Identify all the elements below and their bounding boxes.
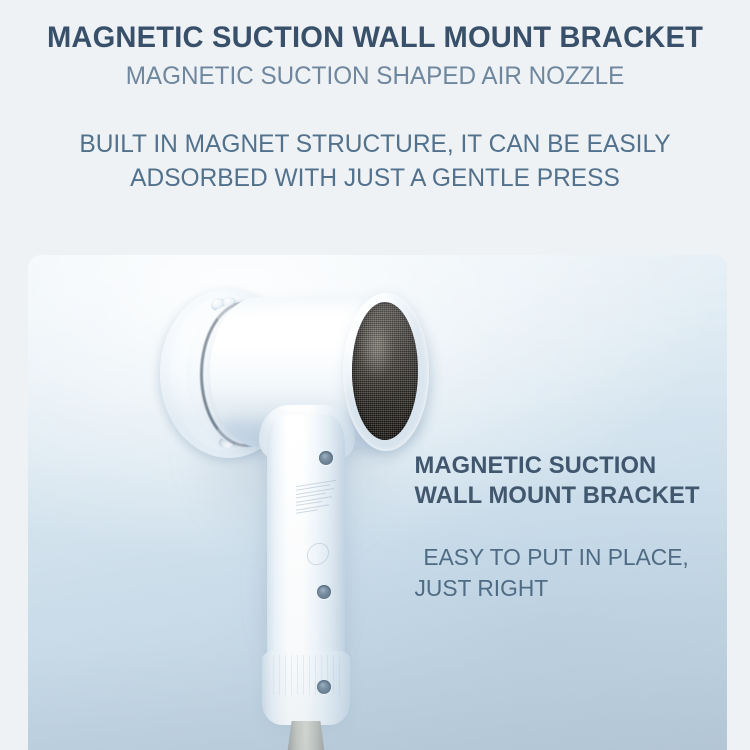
overlay-headline-line-2: WALL MOUNT BRACKET bbox=[415, 481, 712, 511]
dryer-handle-ribs bbox=[268, 655, 344, 695]
page-title: MAGNETIC SUCTION WALL MOUNT BRACKET bbox=[11, 22, 739, 54]
handle-spec-label bbox=[296, 483, 338, 551]
overlay-subtext-line-1: EASY TO PUT IN PLACE, bbox=[415, 542, 712, 573]
overlay-headline-line-1: MAGNETIC SUCTION bbox=[415, 451, 712, 481]
handle-hang-hole-bottom bbox=[317, 680, 331, 694]
overlay-subtext: EASY TO PUT IN PLACE, JUST RIGHT bbox=[415, 542, 712, 604]
product-photo: MAGNETIC SUCTION WALL MOUNT BRACKET EASY… bbox=[28, 255, 727, 750]
feature-tagline-line-2: ADSORBED WITH JUST A GENTLE PRESS bbox=[8, 161, 743, 195]
product-marketing-image: MAGNETIC SUCTION WALL MOUNT BRACKET MAGN… bbox=[0, 0, 750, 750]
feature-tagline: BUILT IN MAGNET STRUCTURE, IT CAN BE EAS… bbox=[8, 127, 743, 195]
header-text-block: MAGNETIC SUCTION WALL MOUNT BRACKET MAGN… bbox=[0, 0, 750, 195]
photo-overlay-text: MAGNETIC SUCTION WALL MOUNT BRACKET EASY… bbox=[413, 451, 713, 604]
handle-screw-hole-top bbox=[319, 451, 333, 465]
handle-screw-hole-middle bbox=[317, 585, 331, 599]
page-subtitle: MAGNETIC SUCTION SHAPED AIR NOZZLE bbox=[11, 63, 739, 90]
power-cord-strain-relief bbox=[286, 721, 326, 750]
feature-tagline-line-1: BUILT IN MAGNET STRUCTURE, IT CAN BE EAS… bbox=[8, 127, 743, 161]
dryer-air-intake-grille bbox=[352, 302, 418, 440]
overlay-subtext-line-2: JUST RIGHT bbox=[415, 573, 712, 604]
overlay-headline: MAGNETIC SUCTION WALL MOUNT BRACKET bbox=[415, 451, 712, 511]
